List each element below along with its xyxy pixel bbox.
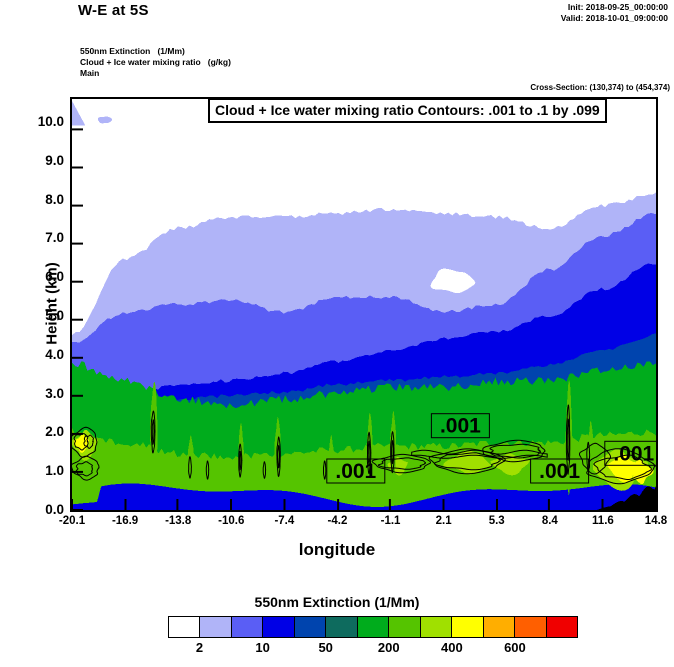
colorbar-cell xyxy=(232,617,263,637)
y-tick-label: 5.0 xyxy=(18,308,64,323)
x-tick-label: -16.9 xyxy=(95,515,155,527)
y-tick-label: 9.0 xyxy=(18,153,64,168)
x-tick-label: -10.6 xyxy=(201,515,261,527)
x-tick-label: -20.1 xyxy=(42,515,102,527)
page-title: W-E at 5S xyxy=(78,2,149,19)
colorbar-cell xyxy=(515,617,546,637)
x-tick-label: 11.6 xyxy=(573,515,633,527)
y-tick-label: 1.0 xyxy=(18,463,64,478)
init-timestamp: Init: 2018-09-25_00:00:00 xyxy=(568,2,668,12)
colorbar-label: 600 xyxy=(490,640,540,655)
colorbar-cell xyxy=(484,617,515,637)
y-tick-label: 4.0 xyxy=(18,347,64,362)
colorbar-title: 550nm Extinction (1/Mm) xyxy=(0,594,674,610)
x-tick-label: 14.8 xyxy=(626,515,674,527)
contour-title-box: Cloud + Ice water mixing ratio Contours:… xyxy=(208,98,607,123)
colorbar-label: 50 xyxy=(301,640,351,655)
colorbar-tick-labels: 21050200400600 xyxy=(168,640,578,660)
colorbar-cell xyxy=(326,617,357,637)
colorbar xyxy=(168,616,578,638)
y-tick-label: 10.0 xyxy=(18,114,64,129)
colorbar-cell xyxy=(421,617,452,637)
field-line-domain: Main xyxy=(80,68,231,79)
x-axis-ticks: -20.1-16.9-13.8-10.6-7.4-4.2-1.12.15.38.… xyxy=(0,515,674,533)
contour-value-label: .001 xyxy=(613,442,654,465)
colorbar-cell xyxy=(169,617,200,637)
x-tick-label: -1.1 xyxy=(361,515,421,527)
colorbar-cell xyxy=(358,617,389,637)
colorbar-label: 2 xyxy=(175,640,225,655)
x-tick-label: -4.2 xyxy=(307,515,367,527)
colorbar-label: 10 xyxy=(238,640,288,655)
colorbar-label: 200 xyxy=(364,640,414,655)
field-description-block: 550nm Extinction (1/Mm) Cloud + Ice wate… xyxy=(80,46,231,79)
colorbar-cell xyxy=(295,617,326,637)
y-tick-label: 2.0 xyxy=(18,424,64,439)
y-tick-label: 3.0 xyxy=(18,386,64,401)
y-tick-label: 7.0 xyxy=(18,230,64,245)
cross-section-endpoints: Cross-Section: (130,374) to (454,374) xyxy=(530,83,670,92)
plot-area: .001.001.001.001 xyxy=(70,97,658,512)
x-tick-label: 8.4 xyxy=(520,515,580,527)
field-line-extinction: 550nm Extinction (1/Mm) xyxy=(80,46,231,57)
field-artifact-upper-west2 xyxy=(98,117,112,124)
colorbar-cell xyxy=(452,617,483,637)
colorbar-cell xyxy=(389,617,420,637)
x-tick-label: -13.8 xyxy=(148,515,208,527)
field-artifact-upper-west xyxy=(72,101,85,126)
y-axis-ticks: 0.01.02.03.04.05.06.07.08.09.010.0 xyxy=(12,0,64,667)
cross-section-field: .001.001.001.001 xyxy=(72,99,656,510)
contour-value-label: .001 xyxy=(539,460,580,483)
x-tick-label: -7.4 xyxy=(254,515,314,527)
colorbar-label: 400 xyxy=(427,640,477,655)
valid-timestamp: Valid: 2018-10-01_09:00:00 xyxy=(561,13,668,23)
x-tick-label: 5.3 xyxy=(467,515,527,527)
field-line-mixing-ratio: Cloud + Ice water mixing ratio (g/kg) xyxy=(80,57,231,68)
colorbar-cell xyxy=(547,617,577,637)
x-axis-title: longitude xyxy=(0,540,674,560)
y-tick-label: 8.0 xyxy=(18,192,64,207)
contour-value-label: .001 xyxy=(335,460,376,483)
colorbar-cell xyxy=(263,617,294,637)
x-tick-label: 2.1 xyxy=(414,515,474,527)
colorbar-cell xyxy=(200,617,231,637)
contour-value-label: .001 xyxy=(440,415,481,438)
y-tick-label: 6.0 xyxy=(18,269,64,284)
